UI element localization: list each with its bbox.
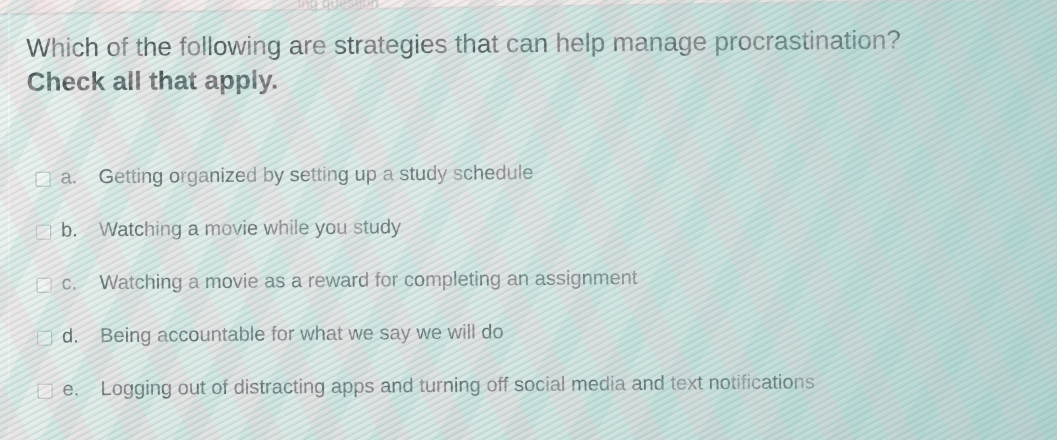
checkbox-c[interactable] bbox=[37, 278, 52, 293]
option-letter-d: d. bbox=[62, 323, 100, 349]
option-row-e[interactable]: e. Logging out of distracting apps and t… bbox=[1, 367, 1057, 430]
option-text-a: Getting organized by setting up a study … bbox=[98, 155, 1056, 190]
answer-options-list: a. Getting organized by setting up a stu… bbox=[0, 155, 1057, 430]
question-prompt-text: Which of the following are strategies th… bbox=[26, 24, 901, 62]
option-letter-b: b. bbox=[61, 217, 99, 243]
checkbox-e[interactable] bbox=[38, 384, 53, 399]
question-prompt: Which of the following are strategies th… bbox=[26, 21, 1047, 99]
checkbox-a[interactable] bbox=[36, 172, 51, 187]
option-letter-e: e. bbox=[62, 376, 100, 402]
checkbox-b[interactable] bbox=[36, 225, 51, 240]
cropped-header-text: ing question bbox=[298, 0, 379, 12]
question-content: ing question Which of the following are … bbox=[0, 0, 1057, 440]
checkbox-d[interactable] bbox=[37, 331, 52, 346]
question-instruction: Check all that apply. bbox=[26, 55, 1046, 99]
option-letter-a: a. bbox=[60, 164, 98, 190]
quiz-question-screenshot: ing question Which of the following are … bbox=[0, 0, 1057, 440]
option-letter-c: c. bbox=[61, 270, 99, 296]
